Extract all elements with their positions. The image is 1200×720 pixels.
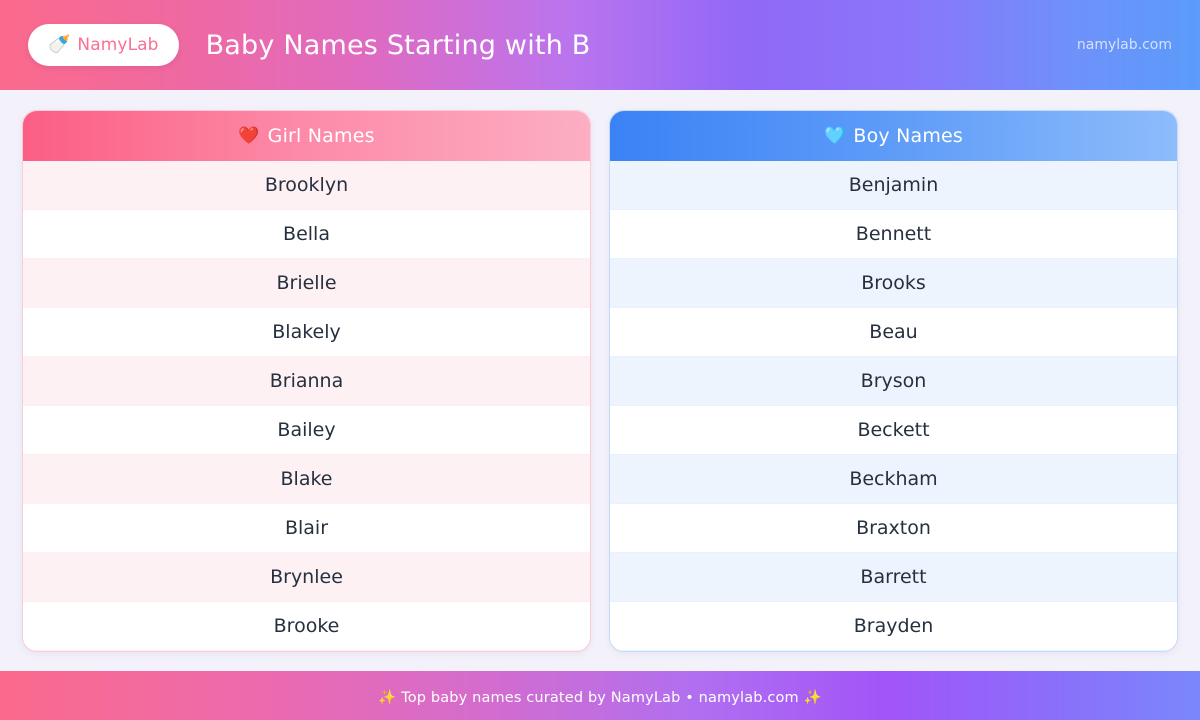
girl-names-list: Brooklyn Bella Brielle Blakely Brianna B… bbox=[23, 161, 590, 651]
list-item[interactable]: Brianna bbox=[23, 357, 590, 406]
boy-names-card: 🩵 Boy Names Benjamin Bennett Brooks Beau… bbox=[609, 110, 1178, 652]
logo-pill[interactable]: 🍼 NamyLab bbox=[28, 24, 179, 66]
list-item[interactable]: Bennett bbox=[610, 210, 1177, 259]
list-item[interactable]: Beckett bbox=[610, 406, 1177, 455]
app-header: 🍼 NamyLab Baby Names Starting with B nam… bbox=[0, 0, 1200, 90]
page-title: Baby Names Starting with B bbox=[206, 30, 591, 61]
list-item[interactable]: Bailey bbox=[23, 406, 590, 455]
list-item[interactable]: Braxton bbox=[610, 504, 1177, 553]
heart-icon: ❤️ bbox=[238, 128, 259, 145]
list-item[interactable]: Blake bbox=[23, 455, 590, 504]
list-item[interactable]: Brooke bbox=[23, 602, 590, 651]
list-item[interactable]: Benjamin bbox=[610, 161, 1177, 210]
girl-names-card-header: ❤️ Girl Names bbox=[23, 111, 590, 161]
cards-container: ❤️ Girl Names Brooklyn Bella Brielle Bla… bbox=[0, 90, 1200, 671]
list-item[interactable]: Bella bbox=[23, 210, 590, 259]
list-item[interactable]: Beau bbox=[610, 308, 1177, 357]
app-footer: ✨ Top baby names curated by NamyLab • na… bbox=[0, 671, 1200, 720]
list-item[interactable]: Blair bbox=[23, 504, 590, 553]
list-item[interactable]: Barrett bbox=[610, 553, 1177, 602]
baby-bottle-icon: 🍼 bbox=[48, 36, 70, 54]
boy-names-card-title: Boy Names bbox=[853, 125, 963, 147]
list-item[interactable]: Bryson bbox=[610, 357, 1177, 406]
site-url: namylab.com bbox=[1077, 37, 1172, 53]
list-item[interactable]: Beckham bbox=[610, 455, 1177, 504]
list-item[interactable]: Brayden bbox=[610, 602, 1177, 651]
boy-names-card-header: 🩵 Boy Names bbox=[610, 111, 1177, 161]
list-item[interactable]: Brynlee bbox=[23, 553, 590, 602]
girl-names-card: ❤️ Girl Names Brooklyn Bella Brielle Bla… bbox=[22, 110, 591, 652]
boy-names-list: Benjamin Bennett Brooks Beau Bryson Beck… bbox=[610, 161, 1177, 651]
blue-heart-icon: 🩵 bbox=[824, 128, 845, 145]
list-item[interactable]: Brielle bbox=[23, 259, 590, 308]
logo-label: NamyLab bbox=[77, 35, 158, 55]
list-item[interactable]: Brooks bbox=[610, 259, 1177, 308]
page-root: 🍼 NamyLab Baby Names Starting with B nam… bbox=[0, 0, 1200, 720]
list-item[interactable]: Brooklyn bbox=[23, 161, 590, 210]
footer-credit: ✨ Top baby names curated by NamyLab • na… bbox=[378, 689, 822, 706]
list-item[interactable]: Blakely bbox=[23, 308, 590, 357]
girl-names-card-title: Girl Names bbox=[268, 125, 375, 147]
